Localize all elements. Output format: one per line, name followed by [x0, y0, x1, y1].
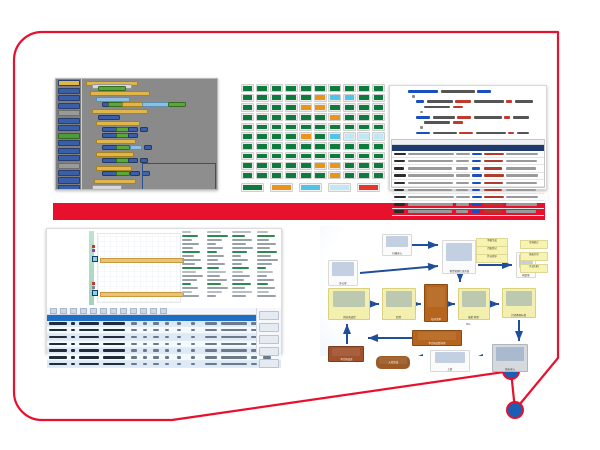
- code-block-20[interactable]: [96, 139, 136, 144]
- code-block-16[interactable]: [140, 127, 148, 132]
- gantt-grid[interactable]: [97, 233, 181, 303]
- status-card[interactable]: [270, 84, 283, 92]
- side-action-button[interactable]: [259, 359, 279, 368]
- status-card[interactable]: [328, 123, 341, 131]
- status-card[interactable]: [256, 142, 269, 150]
- flow-node-system[interactable]: 物资管理信息系统: [442, 240, 476, 274]
- decorative-frame: [0, 0, 600, 450]
- table-cell: [103, 322, 125, 324]
- code-block-25[interactable]: [96, 152, 134, 157]
- table-cell: [177, 329, 181, 331]
- status-card[interactable]: [372, 84, 385, 92]
- status-card[interactable]: [241, 113, 254, 121]
- log-row[interactable]: [392, 173, 544, 180]
- status-card[interactable]: [372, 94, 385, 102]
- log-row[interactable]: [392, 187, 544, 194]
- status-card[interactable]: [328, 84, 341, 92]
- status-card[interactable]: [314, 162, 327, 170]
- note-text-line: [232, 231, 251, 233]
- palette-block-0[interactable]: [58, 80, 80, 86]
- log-text-segment: [456, 210, 468, 212]
- status-card[interactable]: [285, 162, 298, 170]
- status-card[interactable]: [299, 103, 312, 111]
- table-row[interactable]: [47, 327, 281, 334]
- palette-block-2[interactable]: [58, 95, 80, 101]
- table-cell: [191, 336, 195, 338]
- status-card[interactable]: [372, 171, 385, 179]
- status-card[interactable]: [256, 162, 269, 170]
- code-token: [459, 132, 473, 135]
- table-cell: [143, 343, 147, 345]
- code-block-36[interactable]: [92, 185, 122, 190]
- log-text-segment: [506, 167, 536, 169]
- flow-node-stock-in[interactable]: 入库完成: [376, 356, 410, 369]
- status-card[interactable]: [372, 113, 385, 121]
- status-card[interactable]: [256, 152, 269, 160]
- table-row[interactable]: [47, 334, 281, 341]
- status-card[interactable]: [357, 94, 370, 102]
- status-card-bar: [330, 173, 340, 178]
- status-card-bar: [330, 144, 340, 149]
- status-card-bar: [257, 95, 267, 100]
- palette-block-11[interactable]: [58, 163, 80, 169]
- table-cell: [221, 329, 247, 331]
- code-block-15[interactable]: [128, 127, 138, 132]
- status-card[interactable]: [314, 142, 327, 150]
- toolbar-button[interactable]: [120, 308, 127, 314]
- status-card[interactable]: [299, 84, 312, 92]
- toolbar-button[interactable]: [130, 308, 137, 314]
- status-card[interactable]: [285, 132, 298, 140]
- status-card[interactable]: [256, 132, 269, 140]
- flow-node-label: 卸货: [397, 316, 402, 319]
- table-cell: [71, 329, 75, 331]
- gantt-marker: [92, 282, 95, 285]
- status-card[interactable]: [241, 162, 254, 170]
- table-cell: [49, 329, 67, 331]
- note-text-line: [257, 243, 276, 245]
- table-row[interactable]: [47, 354, 281, 361]
- table-body[interactable]: [47, 321, 281, 369]
- code-block-22[interactable]: [116, 145, 130, 150]
- status-card[interactable]: [372, 123, 385, 131]
- side-action-button[interactable]: [259, 323, 279, 332]
- palette-block-13[interactable]: [58, 177, 80, 183]
- status-card[interactable]: [285, 142, 298, 150]
- palette-block-6[interactable]: [58, 125, 80, 131]
- code-block-24[interactable]: [144, 145, 152, 150]
- flow-node-delivery[interactable]: 供应商送货: [328, 288, 370, 320]
- code-token: [515, 100, 533, 103]
- toolbar-button[interactable]: [50, 308, 57, 314]
- code-block-9[interactable]: [168, 102, 186, 107]
- table-cell: [131, 343, 137, 345]
- legend-swatch: [330, 185, 349, 190]
- palette-block-12[interactable]: [58, 170, 80, 176]
- note-text-line: [257, 287, 275, 289]
- status-card[interactable]: [314, 84, 327, 92]
- toolbar-button[interactable]: [110, 308, 117, 314]
- log-row[interactable]: [392, 201, 544, 208]
- status-card[interactable]: [328, 132, 341, 140]
- status-card[interactable]: [270, 113, 283, 121]
- side-action-button[interactable]: [259, 311, 279, 320]
- palette-block-4[interactable]: [58, 110, 80, 116]
- output-panel[interactable]: [391, 139, 545, 188]
- note-text-line: [257, 291, 269, 293]
- log-row[interactable]: [392, 209, 544, 216]
- toolbar-button[interactable]: [150, 308, 157, 314]
- status-card[interactable]: [299, 171, 312, 179]
- log-text-segment: [472, 196, 482, 198]
- status-card[interactable]: [343, 103, 356, 111]
- status-card[interactable]: [299, 142, 312, 150]
- table-cell: [103, 356, 125, 358]
- status-card[interactable]: [372, 103, 385, 111]
- palette-block-9[interactable]: [58, 148, 80, 154]
- code-block-23[interactable]: [130, 145, 142, 150]
- status-card[interactable]: [270, 142, 283, 150]
- code-block-33[interactable]: [130, 171, 140, 176]
- table-side-buttons[interactable]: [256, 308, 281, 353]
- code-token: [506, 100, 512, 103]
- log-text-segment: [472, 160, 481, 162]
- log-text-segment: [484, 174, 504, 176]
- table-row[interactable]: [47, 361, 281, 368]
- note-text-line: [232, 279, 244, 281]
- status-card[interactable]: [314, 113, 327, 121]
- status-card[interactable]: [285, 113, 298, 121]
- logistics-flow-diagram[interactable]: 办公室扫描录入物资管理信息系统档案室供应商送货卸货核对清单抽检 检验打印条码标签…: [320, 226, 550, 356]
- status-card[interactable]: [241, 103, 254, 111]
- note-text-line: [207, 275, 220, 277]
- status-card[interactable]: [285, 123, 298, 131]
- blocks-editor-screenshot[interactable]: [55, 78, 218, 190]
- status-card[interactable]: [285, 171, 298, 179]
- status-card-bar: [243, 144, 253, 149]
- log-text-segment: [472, 210, 480, 212]
- code-block-28[interactable]: [128, 158, 138, 163]
- status-card[interactable]: [285, 152, 298, 160]
- status-card[interactable]: [314, 132, 327, 140]
- toolbar-button[interactable]: [160, 308, 167, 314]
- flow-node-shelving[interactable]: 上架: [430, 350, 470, 372]
- code-block-35[interactable]: [94, 179, 136, 184]
- status-card[interactable]: [343, 84, 356, 92]
- output-log-rows[interactable]: [392, 151, 544, 216]
- status-card-bar: [301, 115, 311, 120]
- status-card[interactable]: [270, 123, 283, 131]
- table-cell: [205, 356, 217, 358]
- toolbar-button[interactable]: [140, 308, 147, 314]
- status-card[interactable]: [343, 152, 356, 160]
- status-card[interactable]: [241, 84, 254, 92]
- gantt-bar[interactable]: [100, 292, 184, 297]
- status-card[interactable]: [314, 94, 327, 102]
- status-card[interactable]: [357, 142, 370, 150]
- status-card[interactable]: [299, 113, 312, 121]
- table-cell: [165, 329, 169, 331]
- status-card[interactable]: [241, 171, 254, 179]
- status-card-bar: [243, 95, 253, 100]
- flow-node-icon: [333, 291, 365, 308]
- status-card[interactable]: [314, 152, 327, 160]
- gantt-bar[interactable]: [100, 258, 184, 263]
- status-card[interactable]: [314, 171, 327, 179]
- code-block-11[interactable]: [98, 115, 120, 120]
- status-card-bar: [374, 134, 384, 139]
- flow-node-scan-in[interactable]: 扫描录入: [382, 234, 412, 256]
- status-card[interactable]: [357, 132, 370, 140]
- flow-node-reject-zone[interactable]: 不合格品暫存区: [412, 330, 462, 346]
- note-text-line: [257, 259, 278, 261]
- gantt-note-columns: [182, 231, 280, 305]
- table-cell: [205, 343, 217, 345]
- note-text-line: [182, 259, 201, 261]
- status-card-bar: [257, 154, 267, 159]
- status-card-bar: [315, 105, 325, 110]
- status-card-bar: [286, 95, 296, 100]
- log-text-segment: [394, 210, 404, 212]
- status-card[interactable]: [343, 171, 356, 179]
- gantt-area[interactable]: [47, 229, 281, 307]
- status-card[interactable]: [241, 94, 254, 102]
- flow-node-label: 打印条码标签: [512, 314, 527, 317]
- code-token: [424, 121, 450, 124]
- palette-block-5[interactable]: [58, 118, 80, 124]
- side-action-button[interactable]: [259, 335, 279, 344]
- status-card[interactable]: [328, 152, 341, 160]
- legend-item-orange: [270, 183, 293, 192]
- code-token: [453, 121, 463, 124]
- status-card[interactable]: [256, 171, 269, 179]
- status-card[interactable]: [357, 171, 370, 179]
- status-card[interactable]: [343, 123, 356, 131]
- status-card[interactable]: [256, 123, 269, 131]
- code-block-19[interactable]: [128, 133, 138, 138]
- gantt-milestone-node[interactable]: [92, 290, 98, 296]
- status-card[interactable]: [372, 142, 385, 150]
- status-card[interactable]: [372, 152, 385, 160]
- log-text-segment: [484, 189, 502, 191]
- legend-swatch: [359, 185, 378, 190]
- status-card[interactable]: [357, 113, 370, 121]
- table-cell: [165, 356, 169, 358]
- status-card[interactable]: [299, 162, 312, 170]
- status-card[interactable]: [328, 113, 341, 121]
- table-row[interactable]: [47, 321, 281, 328]
- note-column: [182, 231, 204, 299]
- table-cell: [143, 356, 147, 358]
- status-card-bar: [286, 134, 296, 139]
- toolbar-button[interactable]: [100, 308, 107, 314]
- table-row[interactable]: [47, 341, 281, 348]
- code-block-12[interactable]: [96, 121, 140, 126]
- side-action-button[interactable]: [259, 347, 279, 356]
- note-text-line: [207, 251, 217, 253]
- code-ide-screenshot[interactable]: [389, 85, 547, 190]
- status-card-bar: [286, 86, 296, 91]
- table-cell: [153, 329, 159, 331]
- status-card[interactable]: [285, 84, 298, 92]
- status-card[interactable]: [256, 103, 269, 111]
- status-card[interactable]: [241, 152, 254, 160]
- status-card-bar: [330, 86, 340, 91]
- table-toolbar[interactable]: [47, 308, 281, 315]
- flow-node-reject-store[interactable]: 不合格品库: [328, 346, 364, 362]
- palette-block-14[interactable]: [58, 185, 80, 190]
- code-block-10[interactable]: [92, 109, 148, 114]
- log-text-segment: [394, 196, 406, 198]
- log-text-segment: [472, 153, 482, 155]
- status-card[interactable]: [357, 123, 370, 131]
- status-card[interactable]: [343, 132, 356, 140]
- status-card[interactable]: [299, 123, 312, 131]
- status-card-bar: [301, 144, 311, 149]
- status-card-bar: [301, 125, 311, 130]
- status-card-bar: [330, 125, 340, 130]
- status-card-bar: [272, 163, 282, 168]
- status-card[interactable]: [343, 162, 356, 170]
- flow-node-label: 上架: [448, 368, 453, 371]
- status-card[interactable]: [357, 162, 370, 170]
- flow-node-label: 不合格品库: [340, 358, 352, 361]
- flow-node-inspect[interactable]: 核对清单: [424, 284, 448, 322]
- status-card[interactable]: [299, 152, 312, 160]
- status-card[interactable]: [299, 132, 312, 140]
- status-card-bar: [359, 154, 369, 159]
- status-card[interactable]: [270, 162, 283, 170]
- log-row[interactable]: [392, 165, 544, 172]
- status-card[interactable]: [343, 142, 356, 150]
- log-text-segment: [472, 182, 481, 184]
- status-card[interactable]: [241, 123, 254, 131]
- status-card[interactable]: [314, 123, 327, 131]
- status-card[interactable]: [270, 171, 283, 179]
- log-row[interactable]: [392, 180, 544, 187]
- legend-swatch: [301, 185, 320, 190]
- status-card[interactable]: [270, 94, 283, 102]
- table-cell: [103, 329, 125, 331]
- flow-node-barcode[interactable]: 打印条码标签: [502, 288, 536, 318]
- log-text-segment: [456, 167, 468, 169]
- log-row[interactable]: [392, 151, 544, 158]
- status-card[interactable]: [357, 103, 370, 111]
- status-card[interactable]: [270, 103, 283, 111]
- data-table-area[interactable]: [47, 308, 281, 353]
- table-cell: [71, 322, 75, 324]
- flow-node-office[interactable]: 办公室: [328, 260, 358, 286]
- blocks-canvas[interactable]: [82, 79, 217, 189]
- status-card[interactable]: [299, 94, 312, 102]
- flow-node-icon: [496, 347, 523, 361]
- note-text-line: [232, 235, 245, 237]
- status-card[interactable]: [328, 171, 341, 179]
- gantt-milestone-node[interactable]: [92, 256, 98, 262]
- flow-node-label-scan[interactable]: 贴标录入: [492, 344, 528, 372]
- palette-block-1[interactable]: [58, 88, 80, 94]
- note-text-line: [207, 283, 221, 285]
- flow-node-qc[interactable]: 抽检 检验: [458, 288, 490, 320]
- log-text-segment: [484, 210, 502, 212]
- table-cell: [165, 322, 169, 324]
- log-row[interactable]: [392, 194, 544, 201]
- status-card[interactable]: [328, 94, 341, 102]
- log-text-segment: [408, 196, 454, 198]
- status-card[interactable]: [256, 94, 269, 102]
- log-text-segment: [394, 174, 406, 176]
- toolbar-button[interactable]: [60, 308, 67, 314]
- status-card-bar: [257, 163, 267, 168]
- log-text-segment: [456, 182, 469, 184]
- status-card[interactable]: [256, 113, 269, 121]
- table-cell: [79, 343, 99, 345]
- code-token: [453, 106, 463, 109]
- palette-block-7[interactable]: [58, 133, 80, 139]
- palette-block-10[interactable]: [58, 155, 80, 161]
- flow-node-unload[interactable]: 卸货: [382, 288, 416, 320]
- status-card[interactable]: [285, 94, 298, 102]
- code-block-32[interactable]: [116, 171, 130, 176]
- code-token: [441, 90, 475, 93]
- note-text-line: [232, 295, 246, 297]
- flow-node-icon: [427, 287, 445, 307]
- table-cell: [251, 363, 257, 365]
- status-card[interactable]: [241, 132, 254, 140]
- table-row[interactable]: [47, 348, 281, 355]
- toolbar-button[interactable]: [90, 308, 97, 314]
- status-card[interactable]: [328, 162, 341, 170]
- status-card[interactable]: [285, 103, 298, 111]
- status-card[interactable]: [372, 162, 385, 170]
- status-card-bar: [286, 125, 296, 130]
- status-card[interactable]: [256, 84, 269, 92]
- code-editor-area[interactable]: [390, 86, 546, 138]
- toolbar-button[interactable]: [80, 308, 87, 314]
- palette-block-3[interactable]: [58, 103, 80, 109]
- flow-node-label: 抽检 检验: [469, 316, 480, 319]
- note-text-line: [232, 271, 243, 273]
- status-card-grid[interactable]: [241, 84, 385, 180]
- palette-block-8[interactable]: [58, 140, 80, 146]
- table-cell: [191, 343, 195, 345]
- status-card[interactable]: [270, 152, 283, 160]
- blocks-palette[interactable]: [56, 79, 82, 190]
- table-cell: [79, 349, 99, 351]
- log-row[interactable]: [392, 158, 544, 165]
- schedule-sheet-screenshot[interactable]: [46, 228, 282, 354]
- status-card[interactable]: [372, 132, 385, 140]
- status-card-bar: [286, 115, 296, 120]
- status-card[interactable]: [241, 142, 254, 150]
- status-card[interactable]: [343, 94, 356, 102]
- code-block-3[interactable]: [90, 91, 150, 96]
- status-card-bar: [345, 86, 355, 91]
- note-text-line: [257, 235, 275, 237]
- status-card[interactable]: [328, 142, 341, 150]
- status-card[interactable]: [357, 152, 370, 160]
- status-card[interactable]: [328, 103, 341, 111]
- note-text-line: [182, 267, 202, 269]
- status-card[interactable]: [343, 113, 356, 121]
- status-card-bar: [272, 144, 282, 149]
- toolbar-button[interactable]: [70, 308, 77, 314]
- log-text-segment: [484, 203, 503, 205]
- status-card[interactable]: [357, 84, 370, 92]
- status-card[interactable]: [314, 103, 327, 111]
- status-card[interactable]: [270, 132, 283, 140]
- status-card-bar: [286, 173, 296, 178]
